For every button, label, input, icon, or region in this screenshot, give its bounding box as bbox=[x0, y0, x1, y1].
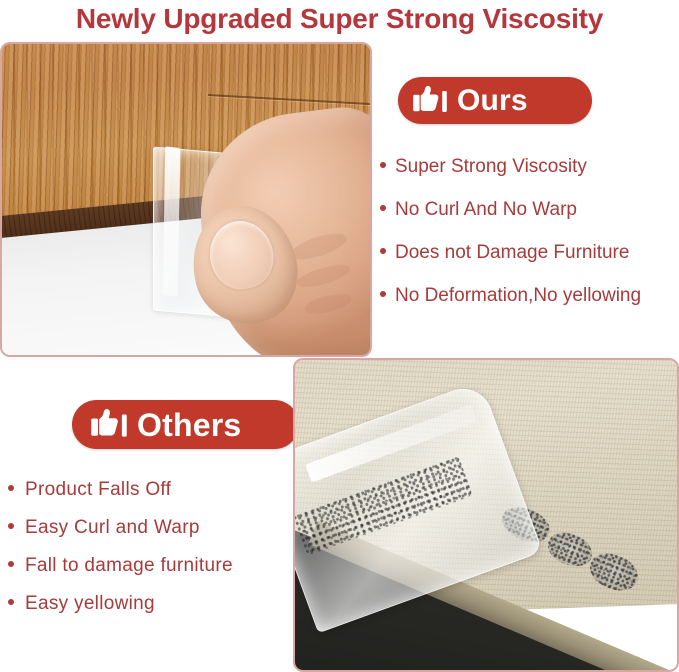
list-item: Fall to damage furniture bbox=[8, 547, 298, 585]
list-item: No Curl And No Warp bbox=[380, 188, 679, 231]
others-bullet-text: Fall to damage furniture bbox=[25, 547, 233, 585]
others-badge: Others bbox=[72, 400, 299, 449]
others-photo bbox=[293, 358, 679, 672]
ours-badge-label: Ours bbox=[457, 86, 528, 116]
page-title: Newly Upgraded Super Strong Viscosity bbox=[0, 0, 679, 40]
list-item: Easy Curl and Warp bbox=[8, 509, 298, 547]
ours-photo-scene bbox=[2, 44, 370, 355]
list-item: Easy yellowing bbox=[8, 585, 298, 623]
ours-bullet-text: Super Strong Viscosity bbox=[395, 145, 587, 188]
bullet-dot-icon bbox=[8, 485, 14, 491]
bullet-dot-icon bbox=[8, 599, 14, 605]
ours-bullet-text: No Deformation,No yellowing bbox=[395, 274, 641, 317]
ours-badge: Ours bbox=[398, 77, 592, 124]
ours-bullet-text: No Curl And No Warp bbox=[395, 188, 577, 231]
others-bullet-text: Easy Curl and Warp bbox=[25, 509, 200, 547]
others-photo-scene bbox=[295, 360, 677, 670]
bullet-dot-icon bbox=[380, 291, 386, 297]
ours-photo bbox=[0, 42, 372, 357]
bullet-dot-icon bbox=[8, 561, 14, 567]
thumbs-up-icon bbox=[90, 408, 128, 442]
bullet-dot-icon bbox=[8, 523, 14, 529]
others-drawback-list: Product Falls Off Easy Curl and Warp Fal… bbox=[8, 471, 298, 623]
bullet-dot-icon bbox=[380, 205, 386, 211]
list-item: Does not Damage Furniture bbox=[380, 231, 679, 274]
corner-guard-highlight bbox=[163, 146, 180, 297]
ours-feature-list: Super Strong Viscosity No Curl And No Wa… bbox=[380, 145, 679, 317]
ours-bullet-text: Does not Damage Furniture bbox=[395, 231, 629, 274]
bullet-dot-icon bbox=[380, 162, 386, 168]
list-item: No Deformation,No yellowing bbox=[380, 274, 679, 317]
bullet-dot-icon bbox=[380, 248, 386, 254]
others-bullet-text: Easy yellowing bbox=[25, 585, 155, 623]
others-bullet-text: Product Falls Off bbox=[25, 471, 171, 509]
others-badge-label: Others bbox=[137, 409, 241, 441]
thumbs-up-icon bbox=[412, 85, 448, 117]
list-item: Product Falls Off bbox=[8, 471, 298, 509]
list-item: Super Strong Viscosity bbox=[380, 145, 679, 188]
